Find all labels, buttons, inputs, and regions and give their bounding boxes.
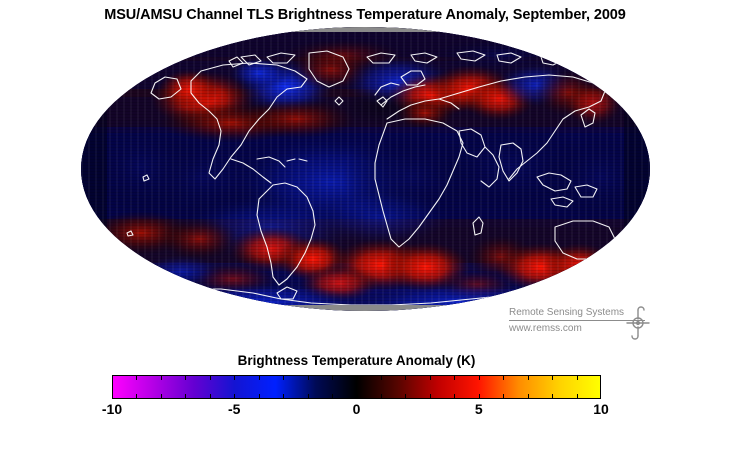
colorbar-gradient <box>112 375 601 399</box>
colorbar-tick-label: 10 <box>593 401 609 417</box>
colorbar-tick-labels: -10-50510 <box>112 401 601 423</box>
colorbar <box>112 375 601 399</box>
map-ellipse-clip <box>81 27 650 311</box>
north-polar-nodata-band <box>81 27 650 32</box>
colorbar-tick-label: 5 <box>475 401 483 417</box>
credit-block: Remote Sensing Systems www.remss.com <box>509 306 659 342</box>
world-map-panel <box>81 27 650 311</box>
remss-satellite-logo <box>621 304 651 342</box>
colorbar-title: Brightness Temperature Anomaly (K) <box>112 353 601 368</box>
brightness-temperature-anomaly-raster <box>81 27 650 311</box>
colorbar-tick-label: -5 <box>228 401 240 417</box>
credit-url[interactable]: www.remss.com <box>509 322 582 335</box>
colorbar-tick-label: -10 <box>102 401 122 417</box>
credit-organization: Remote Sensing Systems <box>509 306 624 319</box>
colorbar-tick-label: 0 <box>353 401 361 417</box>
page-title: MSU/AMSU Channel TLS Brightness Temperat… <box>0 7 730 23</box>
